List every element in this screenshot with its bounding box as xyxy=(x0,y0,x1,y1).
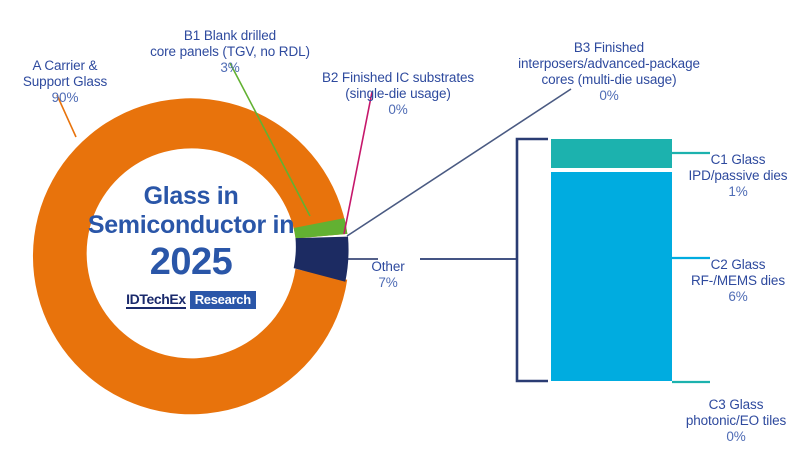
callout-c2-text: C2 Glass RF-/MEMS dies xyxy=(691,257,785,288)
callout-a-text: A Carrier & Support Glass xyxy=(23,58,107,89)
callout-b2-percent: 0% xyxy=(309,102,487,118)
callout-c2-percent: 6% xyxy=(676,289,800,305)
callout-other-percent: 7% xyxy=(360,275,416,291)
callout-label-c2-glass-rf-mems-dies: C2 Glass RF-/MEMS dies 6% xyxy=(676,241,800,321)
callout-other-text: Other xyxy=(371,259,404,274)
callout-c1-text: C1 Glass IPD/passive dies xyxy=(689,152,788,183)
callout-b3-percent: 0% xyxy=(503,88,715,104)
breakout-bracket xyxy=(517,139,548,381)
bracket-path xyxy=(517,139,548,381)
callout-label-other: Other 7% xyxy=(360,243,416,307)
callout-b1-text: B1 Blank drilled core panels (TGV, no RD… xyxy=(150,28,310,59)
callout-c3-text: C3 Glass photonic/EO tiles xyxy=(686,397,786,428)
callout-label-b1-blank-drilled-core-panels: B1 Blank drilled core panels (TGV, no RD… xyxy=(126,12,334,92)
callout-label-c3-glass-photonic-eo-tiles: C3 Glass photonic/EO tiles 0% xyxy=(672,381,800,461)
logo-research-badge: Research xyxy=(190,291,256,309)
callout-b2-text: B2 Finished IC substrates (single-die us… xyxy=(322,70,474,101)
callout-label-b3-finished-interposers: B3 Finished interposers/advanced-package… xyxy=(503,24,715,120)
callout-a-percent: 90% xyxy=(0,90,130,106)
center-headline: Glass in Semiconductor in xyxy=(60,182,322,240)
infographic-canvas: A Carrier & Support Glass 90% B1 Blank d… xyxy=(0,0,800,450)
breakout-bar-chart xyxy=(551,139,672,381)
callout-c3-percent: 0% xyxy=(672,429,800,445)
center-year: 2025 xyxy=(60,241,322,283)
bar-segment-c1-glass-ipd-passive-dies[interactable] xyxy=(551,139,672,168)
bar-segment-c2-glass-rf-mems-dies[interactable] xyxy=(551,172,672,381)
callout-b3-text: B3 Finished interposers/advanced-package… xyxy=(518,40,700,87)
callout-label-a-carrier-support-glass: A Carrier & Support Glass 90% xyxy=(0,42,130,122)
callout-label-c1-glass-ipd-passive-dies: C1 Glass IPD/passive dies 1% xyxy=(676,136,800,216)
callout-b1-percent: 3% xyxy=(126,60,334,76)
idtechex-research-logo: IDTechEx Research xyxy=(60,291,322,309)
callout-label-b2-finished-ic-substrates: B2 Finished IC substrates (single-die us… xyxy=(309,54,487,134)
callout-c1-percent: 1% xyxy=(676,184,800,200)
logo-wordmark: IDTechEx xyxy=(126,291,186,309)
donut-center-block: Glass in Semiconductor in 2025 IDTechEx … xyxy=(60,182,322,309)
